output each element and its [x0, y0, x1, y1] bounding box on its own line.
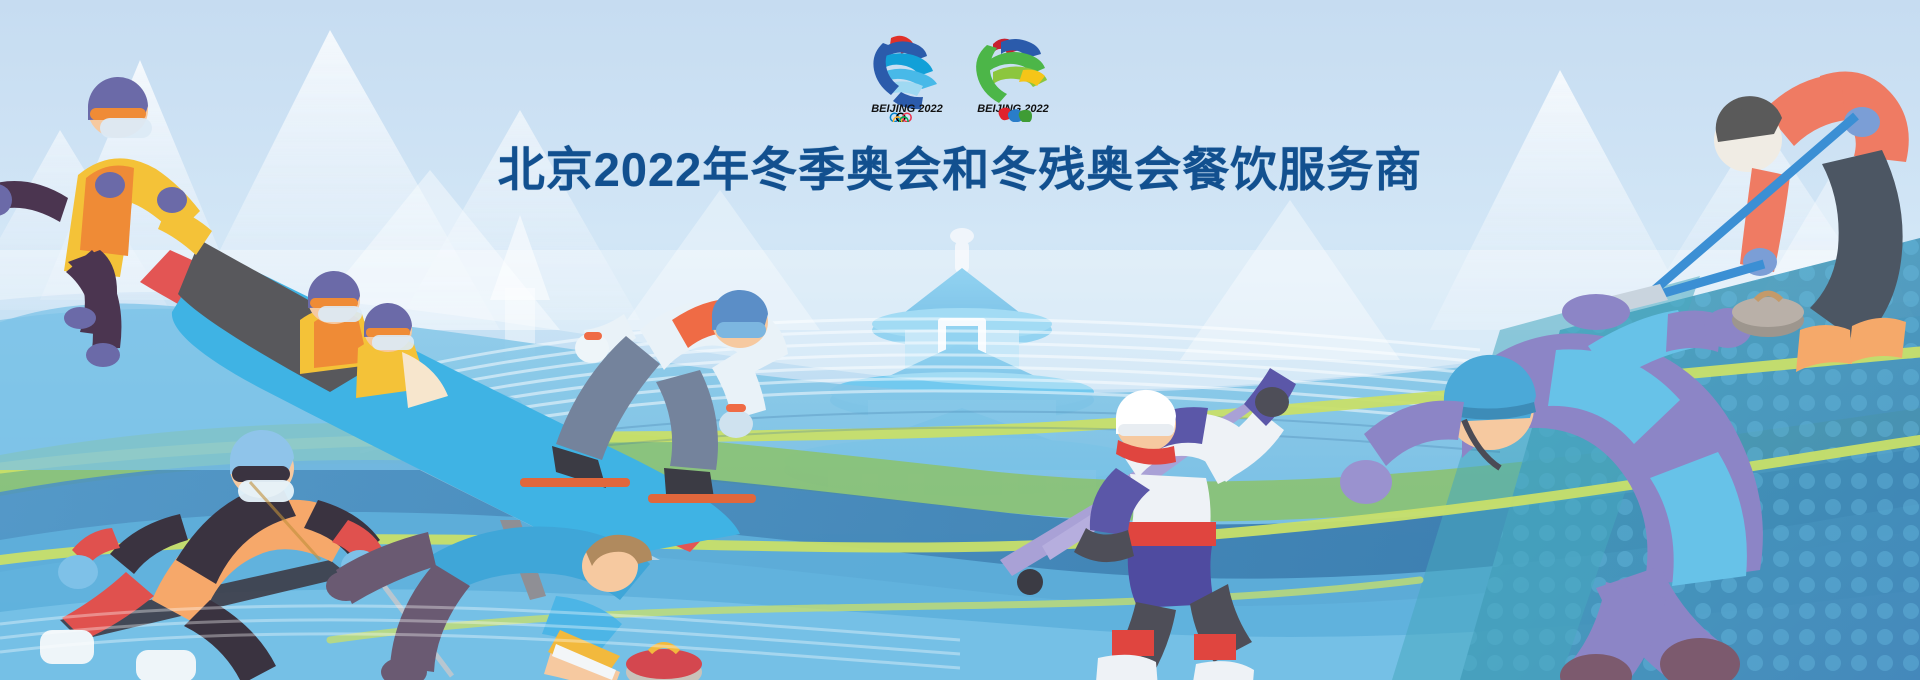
olympic-banner: BEIJING 2022: [0, 0, 1920, 680]
winter-sports-illustration: [0, 0, 1920, 680]
